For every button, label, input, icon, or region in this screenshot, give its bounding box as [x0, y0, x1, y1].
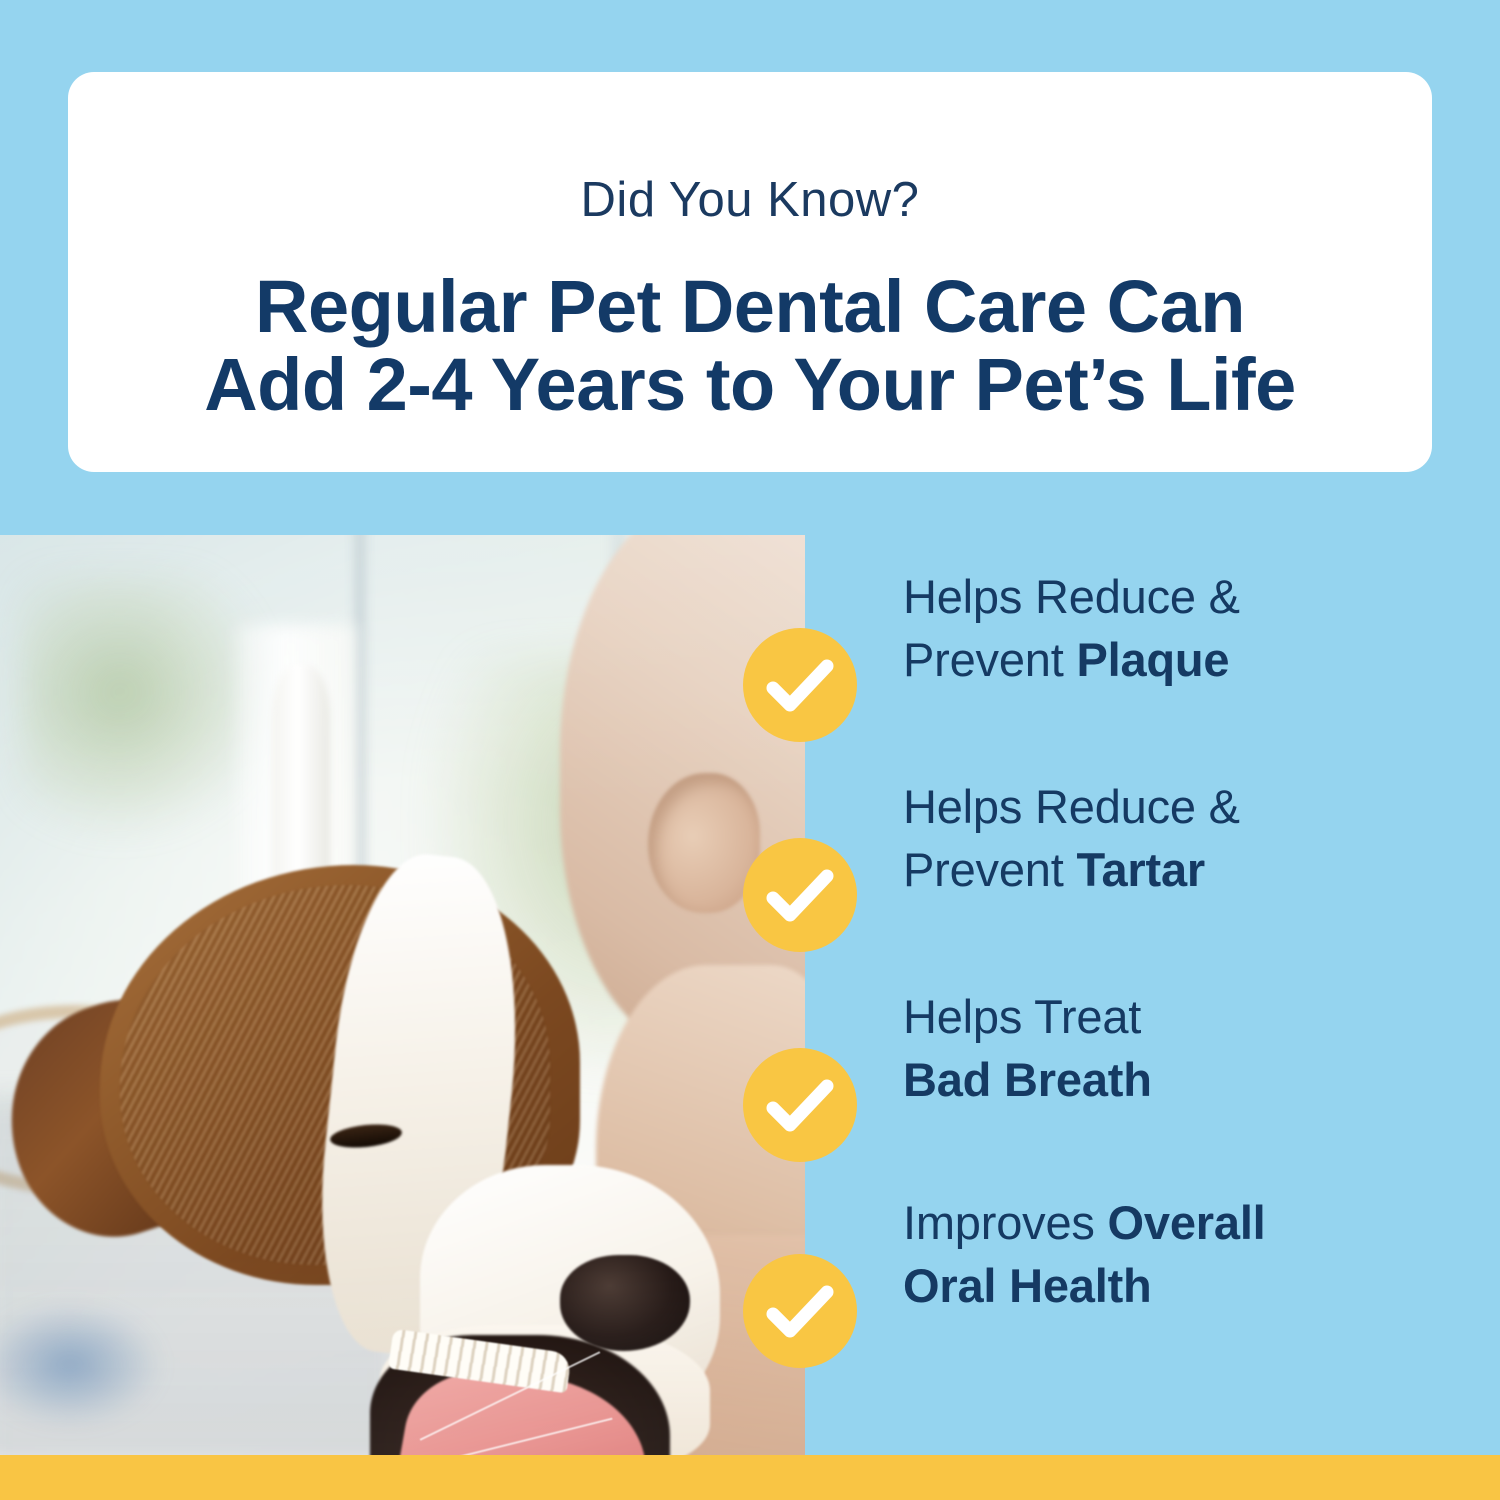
benefit-label: Helps Reduce & Prevent Plaque — [903, 565, 1363, 691]
benefit-line-2: Oral Health — [903, 1254, 1363, 1317]
benefit-line-1: Improves Overall — [903, 1191, 1363, 1254]
benefit-line-2: Prevent Plaque — [903, 628, 1363, 691]
benefit-line-1: Helps Reduce & — [903, 565, 1363, 628]
photo-color-grade — [0, 535, 805, 1455]
benefit-label: Improves Overall Oral Health — [903, 1191, 1363, 1317]
bottom-accent-bar — [0, 1455, 1500, 1500]
benefit-label: Helps Treat Bad Breath — [903, 985, 1363, 1111]
infographic-poster: Did You Know? Regular Pet Dental Care Ca… — [0, 0, 1500, 1500]
checkmark-icon — [743, 838, 857, 952]
eyebrow-text: Did You Know? — [68, 176, 1432, 225]
benefit-label: Helps Reduce & Prevent Tartar — [903, 775, 1363, 901]
checkmark-icon — [743, 1048, 857, 1162]
benefit-line-2-plain: Prevent — [903, 633, 1076, 686]
benefit-line-1-bold: Overall — [1108, 1196, 1266, 1249]
benefit-line-2-bold: Plaque — [1076, 633, 1229, 686]
benefit-line-1: Helps Treat — [903, 985, 1363, 1048]
benefit-line-2-bold: Oral Health — [903, 1259, 1152, 1312]
benefit-line-1-plain: Improves — [903, 1196, 1108, 1249]
benefit-line-2: Prevent Tartar — [903, 838, 1363, 901]
headline-line-1: Regular Pet Dental Care Can — [108, 268, 1392, 346]
benefit-line-1: Helps Reduce & — [903, 775, 1363, 838]
checkmark-icon — [743, 628, 857, 742]
benefit-line-2: Bad Breath — [903, 1048, 1363, 1111]
header-card: Did You Know? Regular Pet Dental Care Ca… — [68, 72, 1432, 472]
benefit-line-2-bold: Tartar — [1076, 843, 1205, 896]
benefit-line-2-bold: Bad Breath — [903, 1053, 1152, 1106]
headline-line-2: Add 2-4 Years to Your Pet’s Life — [108, 346, 1392, 424]
benefit-line-2-plain: Prevent — [903, 843, 1076, 896]
page-title: Regular Pet Dental Care Can Add 2-4 Year… — [108, 268, 1392, 425]
dog-and-owner-photo — [0, 535, 805, 1455]
checkmark-icon — [743, 1254, 857, 1368]
